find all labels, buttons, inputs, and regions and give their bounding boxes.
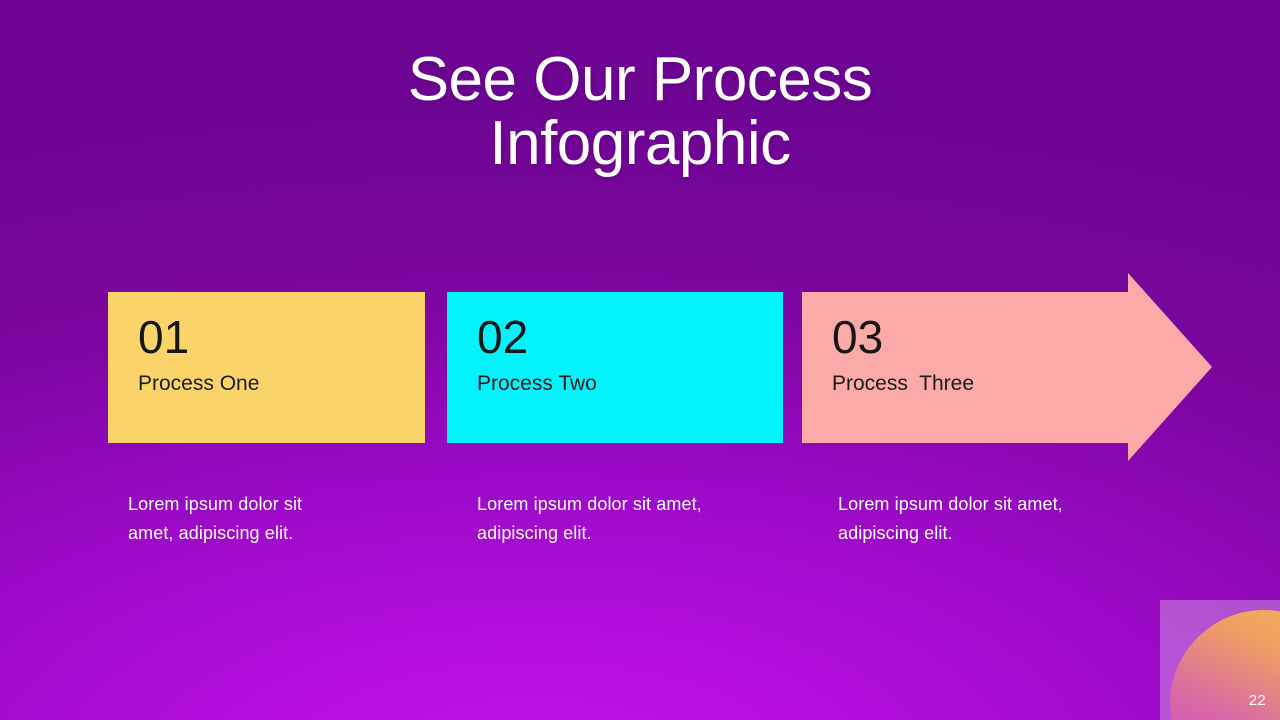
page-title-line-2: Infographic: [0, 112, 1280, 176]
process-step-1-caption: Lorem ipsum dolor sit amet, adipiscing e…: [128, 490, 428, 548]
process-step-card-1-body: 01 Process One: [108, 292, 425, 443]
process-step-1-number: 01: [138, 312, 425, 362]
process-step-2-caption-line-1: Lorem ipsum dolor sit amet,: [477, 490, 787, 519]
process-step-3-caption-line-2: adipiscing elit.: [838, 519, 1148, 548]
page-title: See Our Process Infographic: [0, 48, 1280, 176]
process-step-2-label: Process Two: [477, 371, 783, 397]
process-step-card-2-body: 02 Process Two: [447, 292, 783, 443]
process-step-card-3[interactable]: 03 Process Three: [802, 292, 1211, 443]
process-step-3-label: Process Three: [832, 371, 1211, 397]
process-step-3-caption-line-1: Lorem ipsum dolor sit amet,: [838, 490, 1148, 519]
process-captions-row: Lorem ipsum dolor sit amet, adipiscing e…: [0, 490, 1280, 560]
process-step-card-2[interactable]: 02 Process Two: [447, 292, 783, 443]
process-step-2-number: 02: [477, 312, 783, 362]
process-step-3-caption: Lorem ipsum dolor sit amet, adipiscing e…: [838, 490, 1148, 548]
process-step-2-caption: Lorem ipsum dolor sit amet, adipiscing e…: [477, 490, 787, 548]
page-number: 22: [1249, 693, 1266, 708]
process-step-3-number: 03: [832, 312, 1211, 362]
slide-canvas: See Our Process Infographic 01 Process O…: [0, 0, 1280, 720]
page-title-line-1: See Our Process: [0, 48, 1280, 112]
process-step-card-3-body: 03 Process Three: [802, 292, 1211, 443]
process-step-1-caption-line-1: Lorem ipsum dolor sit: [128, 490, 428, 519]
process-step-1-label: Process One: [138, 371, 425, 397]
process-step-2-caption-line-2: adipiscing elit.: [477, 519, 787, 548]
process-step-card-1[interactable]: 01 Process One: [108, 292, 425, 443]
process-steps-row: 01 Process One 02 Process Two 03 Process…: [0, 292, 1280, 444]
process-step-1-caption-line-2: amet, adipiscing elit.: [128, 519, 428, 548]
